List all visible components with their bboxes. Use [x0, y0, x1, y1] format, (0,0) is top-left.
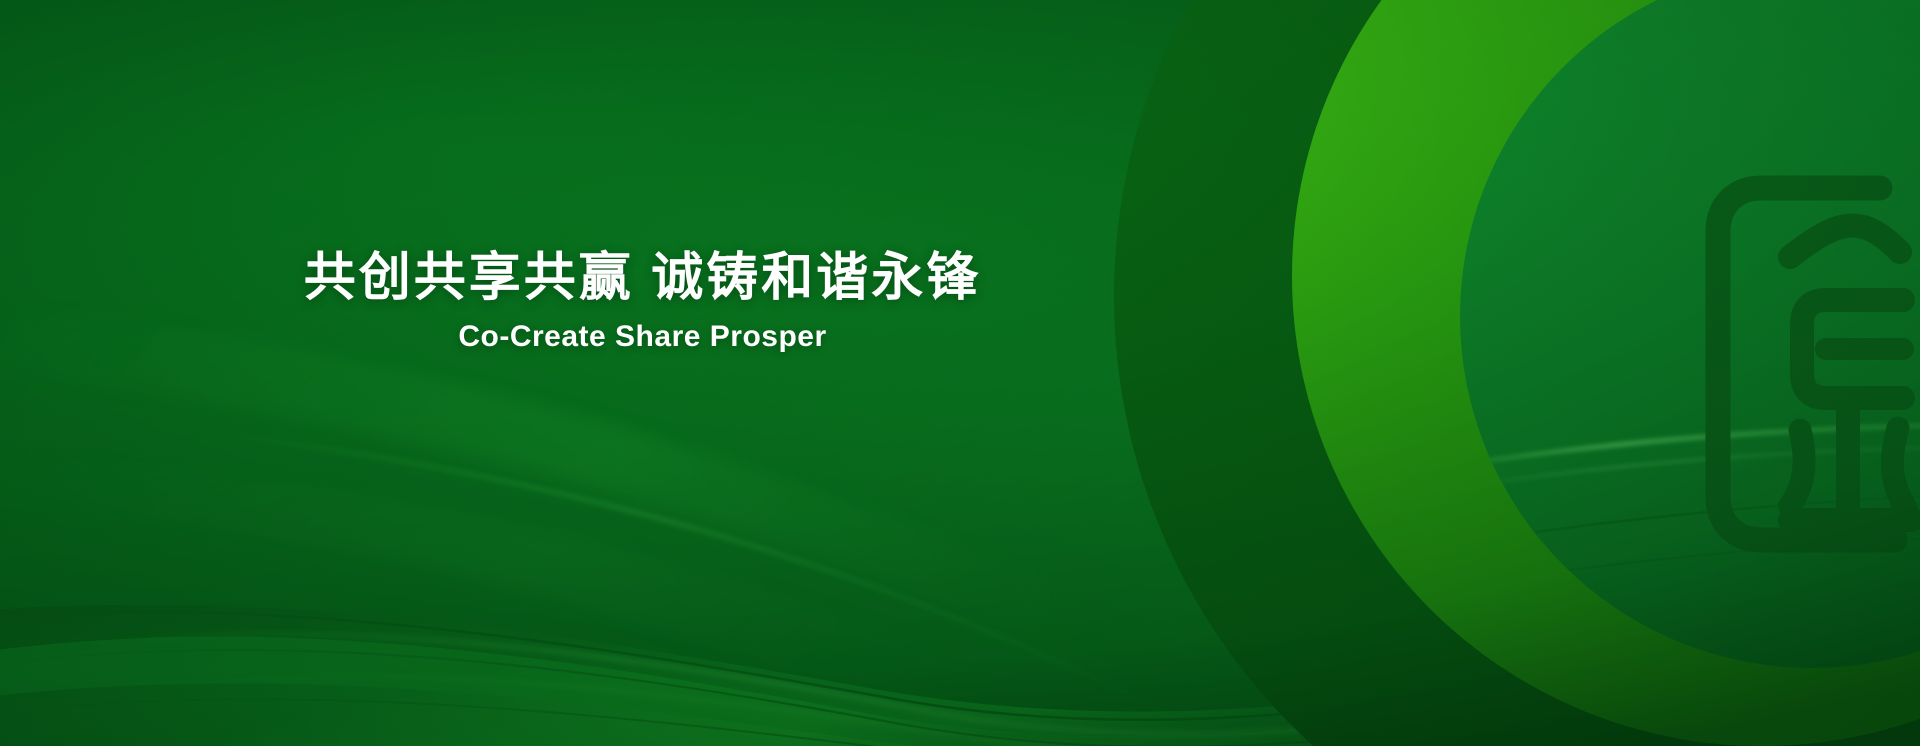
- corporate-banner: 共创共享共赢 诚铸和谐永锋 Co-Create Share Prosper: [0, 0, 1920, 746]
- background-vignette: [0, 0, 1920, 746]
